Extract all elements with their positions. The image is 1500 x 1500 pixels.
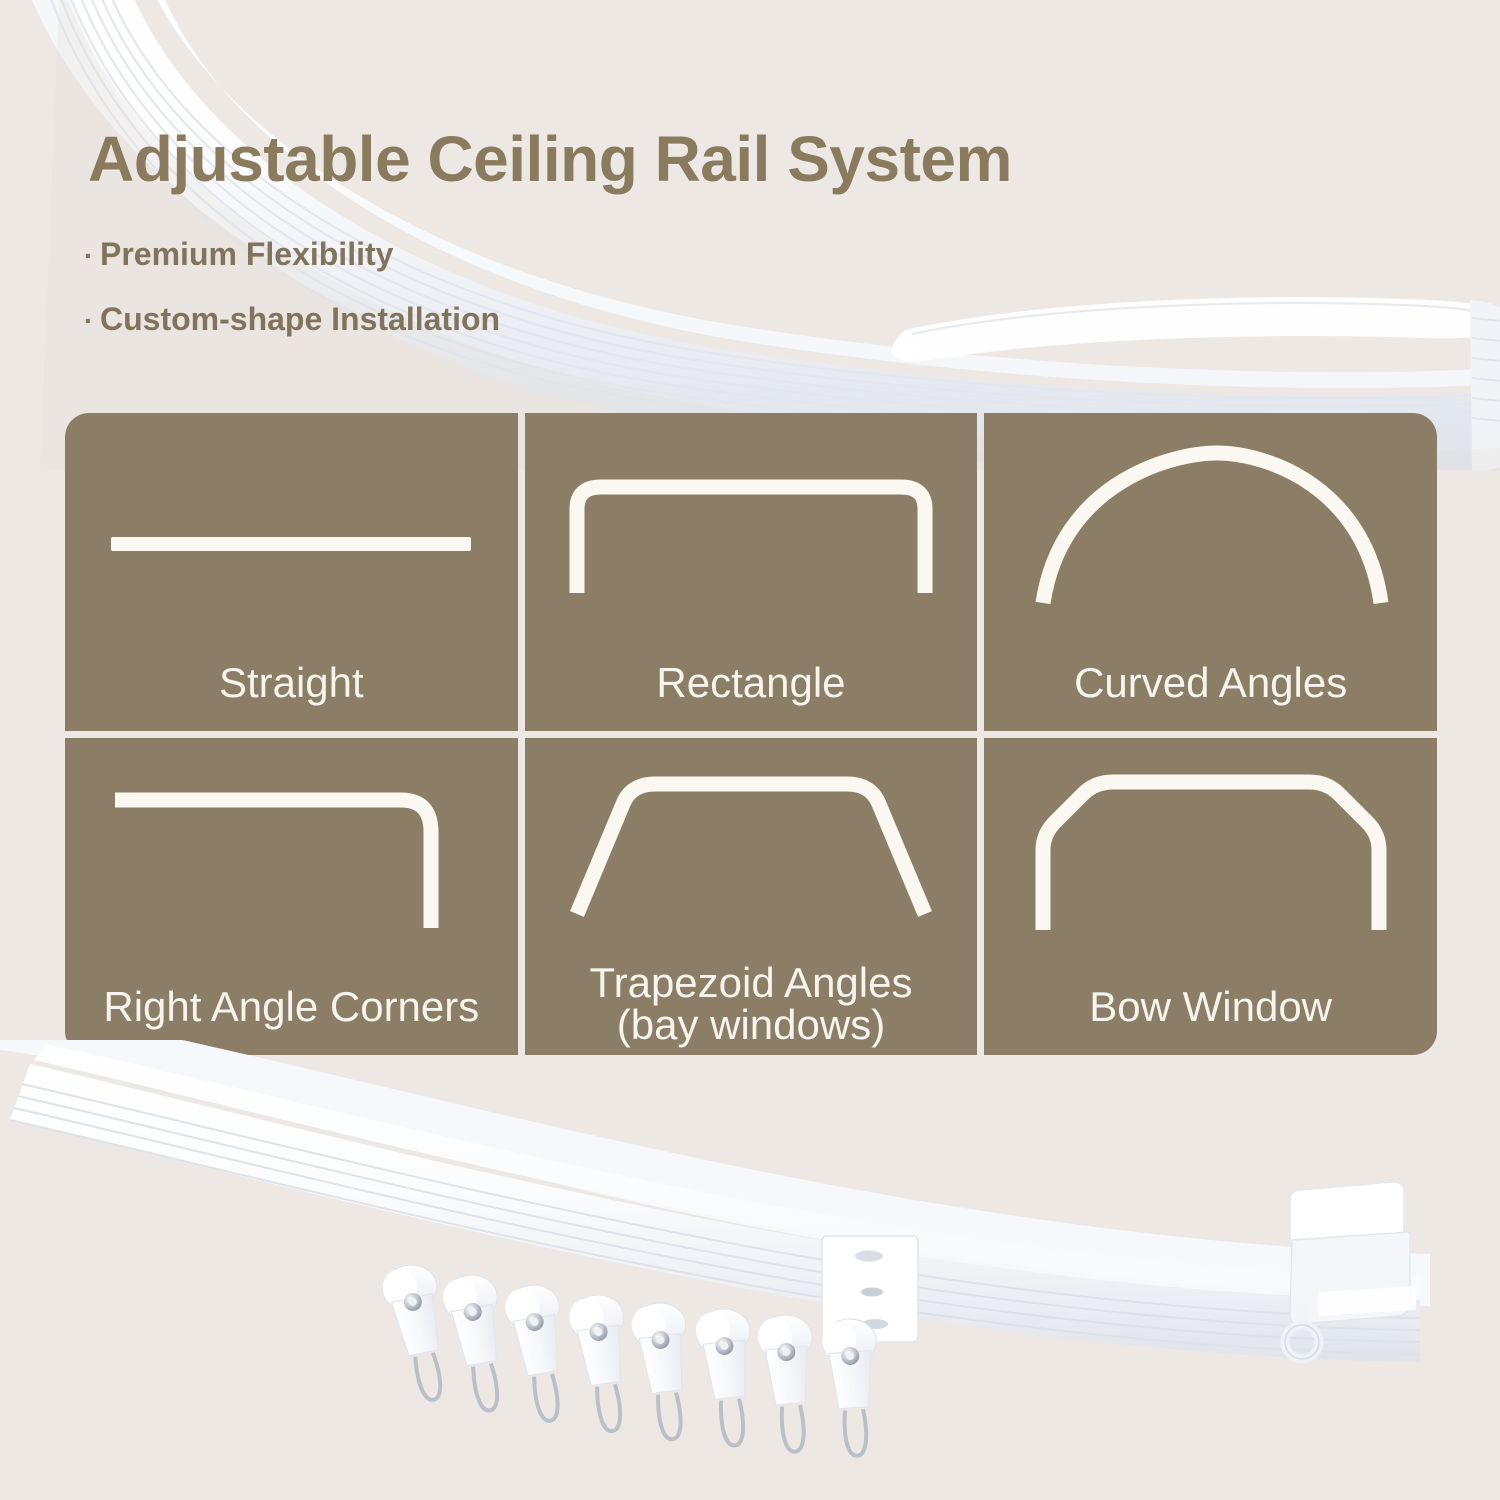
bullet-label: Custom-shape Installation	[100, 301, 500, 338]
bullet-dot-icon: ·	[84, 307, 100, 335]
right-angle-rail-shape-icon	[65, 738, 518, 987]
shape-label: Rectangle	[525, 662, 978, 731]
shape-cell-rectangle: Rectangle	[525, 413, 978, 731]
roller-carrier	[502, 1281, 577, 1425]
installed-rail-with-carriers-photo	[0, 1040, 1500, 1500]
shape-cell-straight: Straight	[65, 413, 518, 731]
page-title: Adjustable Ceiling Rail System	[88, 122, 1012, 196]
end-cap-eyelet-icon	[1285, 1304, 1319, 1359]
rail-end-cap	[1290, 1182, 1416, 1324]
roller-carrier	[629, 1300, 699, 1443]
trapezoid-rail-shape-icon	[525, 738, 978, 962]
product-infographic: Adjustable Ceiling Rail System · Premium…	[0, 0, 1500, 1500]
list-item: · Custom-shape Installation	[84, 301, 724, 338]
coiled-flexible-ceiling-rail-photo	[0, 0, 1500, 470]
roller-carrier	[694, 1306, 762, 1448]
roller-carrier	[379, 1260, 460, 1405]
rail-shape-grid: Straight Rectangle Curved Angles	[65, 413, 1437, 1055]
shape-label: Trapezoid Angles (bay windows)	[525, 962, 978, 1056]
shape-label: Bow Window	[984, 986, 1437, 1055]
roller-carrier	[756, 1313, 822, 1454]
roller-carrier	[567, 1292, 640, 1435]
curved-arc-rail-shape-icon	[984, 413, 1437, 662]
ceiling-mount-bracket	[822, 1236, 918, 1342]
straight-rail-shape-icon	[65, 413, 518, 662]
bow-window-rail-shape-icon	[984, 738, 1437, 987]
roller-carrier-group	[379, 1260, 884, 1458]
shape-cell-trapezoid-angles: Trapezoid Angles (bay windows)	[525, 738, 978, 1056]
shape-label: Curved Angles	[984, 662, 1437, 731]
feature-bullet-list: · Premium Flexibility · Custom-shape Ins…	[84, 236, 724, 366]
shape-cell-curved-angles: Curved Angles	[984, 413, 1437, 731]
list-item: · Premium Flexibility	[84, 236, 724, 273]
roller-carrier	[821, 1317, 884, 1457]
rectangle-rail-shape-icon	[525, 413, 978, 662]
bullet-dot-icon: ·	[84, 242, 100, 270]
shape-label: Right Angle Corners	[65, 986, 518, 1055]
shape-label: Straight	[65, 662, 518, 731]
roller-carrier	[440, 1271, 517, 1415]
shape-cell-right-angle-corners: Right Angle Corners	[65, 738, 518, 1056]
bullet-label: Premium Flexibility	[100, 236, 393, 273]
shape-cell-bow-window: Bow Window	[984, 738, 1437, 1056]
